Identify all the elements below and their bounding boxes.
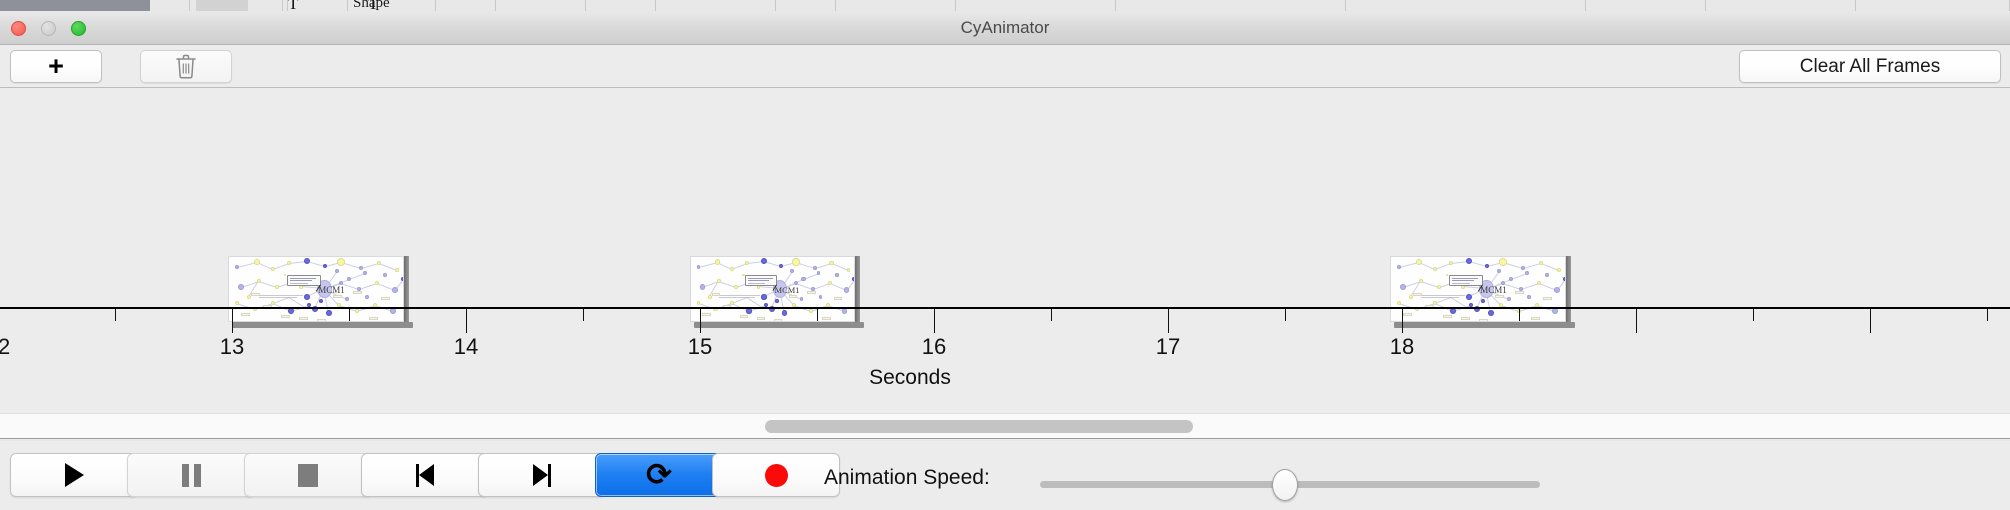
network-node (847, 268, 851, 272)
network-node (761, 258, 767, 264)
network-node (1397, 301, 1401, 305)
frame-edge (1566, 256, 1571, 322)
network-node (1545, 273, 1549, 277)
delete-frame-button[interactable] (140, 50, 232, 83)
network-node (1563, 277, 1566, 281)
network-node-label (1495, 295, 1504, 298)
background-window-strip: TTShape (0, 0, 2010, 11)
skip-back-icon (416, 464, 434, 487)
frame-shadow (232, 322, 413, 328)
axis-title: Seconds (0, 366, 2010, 390)
timeline-panel[interactable]: MCM1MCM1MCM1 12131415161718 Seconds (0, 88, 2010, 413)
network-node-label (241, 313, 250, 316)
network-node (1400, 284, 1406, 290)
skip-back-button[interactable] (361, 453, 489, 497)
network-node (1433, 267, 1437, 271)
ruler-tick (1636, 309, 1637, 333)
network-node (1509, 277, 1514, 282)
ruler-tick (1168, 309, 1169, 333)
network-node (383, 273, 387, 277)
frame-shadow (694, 322, 864, 328)
frame-network-preview: MCM1 (690, 256, 855, 322)
network-node-label (1531, 317, 1540, 320)
network-node (819, 295, 823, 299)
plus-icon: + (48, 56, 64, 78)
network-node (359, 266, 363, 270)
network-node (746, 308, 751, 313)
network-node (734, 285, 738, 289)
network-node (817, 271, 821, 275)
network-node (363, 271, 367, 275)
network-node (347, 277, 352, 282)
ruler-tick (1987, 309, 1988, 321)
window-title: CyAnimator (0, 11, 2010, 45)
network-node-label (369, 317, 378, 320)
frame-network-preview: MCM1 (228, 256, 404, 322)
network-node (844, 287, 849, 292)
network-node (1497, 269, 1502, 274)
network-node (829, 261, 833, 265)
ruler-tick (1870, 309, 1871, 333)
network-node (700, 284, 705, 289)
ruler-tick (349, 309, 350, 321)
network-node (745, 261, 749, 265)
network-node (790, 269, 794, 273)
network-node (835, 273, 839, 277)
timeline-scrollbar-thumb[interactable] (765, 420, 1193, 433)
network-caption-text (719, 295, 760, 296)
network-node (1419, 279, 1423, 283)
skip-forward-icon (533, 464, 551, 487)
network-node (345, 297, 349, 301)
network-node (779, 264, 783, 268)
frame-shadow (1394, 322, 1575, 328)
network-node (392, 287, 398, 293)
ruler-tick (232, 309, 233, 333)
loop-icon: ⟳ (646, 460, 672, 491)
network-node (335, 269, 340, 274)
network-node (809, 309, 813, 313)
network-node (287, 261, 292, 266)
network-node-label (353, 291, 362, 294)
network-node (326, 310, 332, 316)
pause-icon (182, 464, 201, 487)
ruler-tick-label: 14 (436, 334, 496, 360)
network-node (1397, 265, 1401, 269)
network-node-label (299, 317, 308, 320)
ruler-tick (817, 309, 818, 321)
ruler-tick (1402, 309, 1403, 333)
clear-all-frames-label: Clear All Frames (1800, 56, 1940, 78)
network-node (792, 258, 799, 265)
network-node (1481, 299, 1485, 303)
network-caption-text (259, 297, 297, 298)
network-node (852, 277, 855, 281)
stop-button[interactable] (244, 453, 372, 497)
network-node (254, 259, 260, 265)
network-edge (831, 263, 848, 271)
network-node (1437, 285, 1441, 289)
network-node (319, 299, 323, 303)
network-node (284, 274, 287, 277)
network-node-label (1479, 319, 1488, 322)
network-node (1449, 261, 1454, 266)
ruler-tick (1519, 309, 1520, 321)
network-node-label (1461, 317, 1470, 320)
network-node-label (740, 315, 748, 318)
network-caption-text (259, 295, 303, 296)
network-hub-label: MCM1 (775, 285, 800, 295)
network-edge (1435, 297, 1451, 304)
ruler-tick (1285, 309, 1286, 321)
frame-thumbnail-3[interactable]: MCM1 (1390, 256, 1571, 328)
network-edge (732, 297, 747, 304)
network-node (395, 268, 399, 272)
network-node (1485, 264, 1490, 269)
network-node (1466, 258, 1473, 265)
ruler-tick-label: 17 (1138, 334, 1198, 360)
pause-button[interactable] (127, 453, 255, 497)
network-node (801, 277, 805, 281)
network-annotation-box (287, 275, 321, 286)
timeline-ruler (0, 307, 2010, 309)
ruler-tick (583, 309, 584, 321)
network-node (238, 284, 244, 290)
ruler-tick-label: 16 (904, 334, 964, 360)
network-node (365, 295, 369, 299)
ruler-tick-label: 18 (1372, 334, 1432, 360)
network-node (800, 297, 804, 301)
add-frame-button[interactable]: + (10, 50, 102, 83)
network-node (1521, 266, 1525, 270)
network-node (235, 265, 239, 269)
network-node (235, 301, 239, 305)
background-window-label: Shape (353, 0, 390, 11)
ruler-tick (700, 309, 701, 333)
network-node-label (317, 319, 326, 322)
network-hub-label: MCM1 (1480, 285, 1507, 295)
network-node-label (381, 297, 390, 300)
network-caption-text (1421, 295, 1465, 296)
network-hub-label: MCM1 (318, 285, 345, 295)
ruler-tick (115, 309, 116, 321)
network-node-label (1443, 315, 1452, 318)
network-node (715, 259, 720, 264)
network-node-label (807, 291, 815, 294)
frame-thumbnail-2[interactable]: MCM1 (690, 256, 860, 328)
network-node (257, 279, 261, 283)
network-node (1466, 294, 1472, 300)
play-icon (65, 463, 84, 487)
network-node-label (757, 317, 765, 320)
network-node-label (774, 319, 782, 322)
network-node (304, 294, 310, 300)
frame-edge (404, 256, 409, 322)
playback-controls: ⟳ Animation Speed: (0, 440, 2010, 510)
network-node (304, 258, 311, 265)
network-node-label (834, 297, 842, 300)
network-node (1499, 258, 1507, 266)
stop-icon (298, 464, 318, 487)
ruler-tick (1051, 309, 1052, 321)
network-node (271, 267, 275, 271)
frame-network-preview: MCM1 (1390, 256, 1566, 322)
network-node (1416, 259, 1422, 265)
network-node-label (702, 313, 710, 316)
network-node (275, 285, 279, 289)
network-node-label (712, 293, 720, 296)
network-node (1525, 271, 1529, 275)
ruler-tick (466, 309, 467, 333)
network-caption-text (1421, 297, 1459, 298)
network-node (1557, 268, 1561, 272)
frame-edge (855, 256, 860, 322)
skip-forward-button[interactable] (478, 453, 606, 497)
network-node (761, 294, 766, 299)
network-node (697, 301, 701, 305)
trash-icon (175, 54, 197, 79)
network-caption-text (719, 297, 755, 298)
network-node (1488, 310, 1494, 316)
timeline-scrollbar[interactable] (0, 413, 2010, 439)
network-node (401, 277, 404, 281)
frame-thumbnail-1[interactable]: MCM1 (228, 256, 409, 328)
clear-all-frames-button[interactable]: Clear All Frames (1739, 50, 2001, 83)
network-node-label (1515, 291, 1524, 294)
ruler-tick (934, 309, 935, 333)
network-node (1446, 274, 1449, 277)
network-node (1554, 287, 1560, 293)
network-node (355, 309, 360, 314)
network-node (323, 264, 328, 269)
ruler-tick-label: 15 (670, 334, 730, 360)
record-icon (765, 464, 788, 487)
network-node (1507, 297, 1511, 301)
network-node (813, 266, 817, 270)
network-node (782, 310, 787, 315)
animation-speed-label: Animation Speed: (824, 466, 990, 490)
network-node (730, 267, 734, 271)
network-node (717, 279, 721, 283)
record-button[interactable] (712, 453, 840, 497)
ruler-tick (1753, 309, 1754, 321)
network-node-label (822, 317, 830, 320)
network-node (842, 308, 847, 313)
loop-button[interactable]: ⟳ (595, 453, 723, 497)
network-node (775, 299, 779, 303)
animation-speed-slider-thumb[interactable] (1272, 469, 1298, 501)
network-node-label (1403, 313, 1412, 316)
network-node (1527, 295, 1531, 299)
play-button[interactable] (10, 453, 138, 497)
network-node-label (333, 295, 342, 298)
network-node-label (281, 315, 290, 318)
network-node-label (789, 295, 797, 298)
window-titlebar: CyAnimator (0, 11, 2010, 45)
toolbar: + Clear All Frames (0, 45, 2010, 88)
network-annotation-box (1449, 275, 1483, 286)
network-node-label (1413, 293, 1422, 296)
network-node-label (1543, 297, 1552, 300)
ruler-tick-label: 13 (202, 334, 262, 360)
network-node (337, 258, 345, 266)
network-annotation-box (745, 275, 777, 286)
ruler-tick-label: 12 (0, 334, 28, 360)
network-node (697, 265, 701, 269)
network-node-label (251, 293, 260, 296)
network-edge (273, 297, 289, 304)
